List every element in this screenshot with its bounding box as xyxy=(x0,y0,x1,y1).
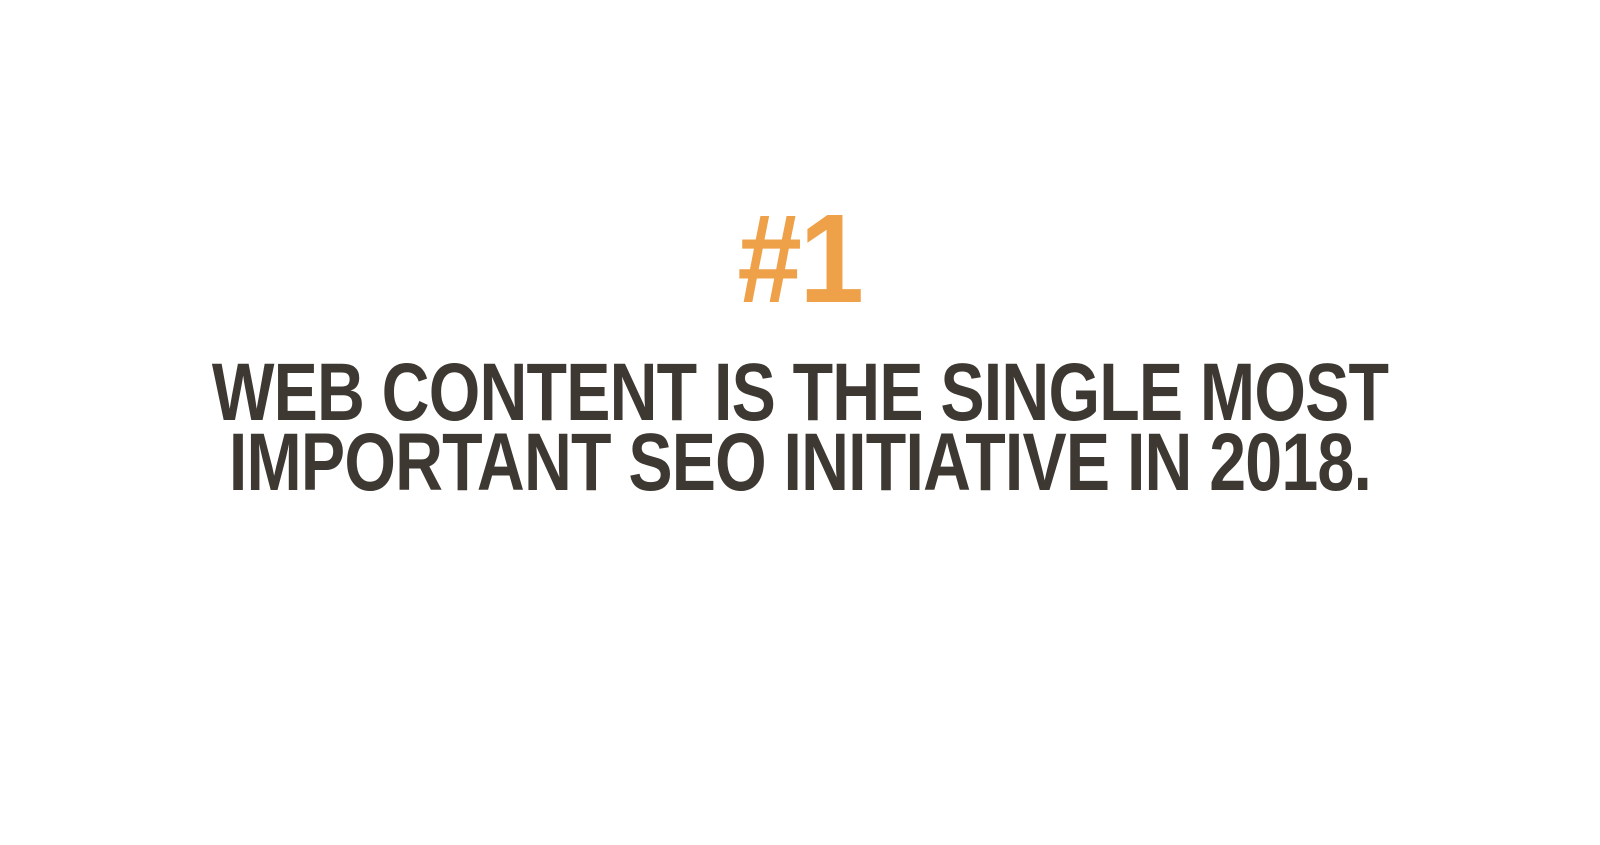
headline: WEB CONTENT IS THE SINGLE MOST IMPORTANT… xyxy=(0,358,1600,498)
rank-number-text: #1 xyxy=(738,196,862,322)
slide-canvas: #1 WEB CONTENT IS THE SINGLE MOST IMPORT… xyxy=(0,0,1600,845)
headline-line-2: IMPORTANT SEO INITIATIVE IN 2018. xyxy=(154,428,1447,498)
rank-badge: #1 xyxy=(0,196,1600,322)
empty-lower-region xyxy=(0,520,1600,845)
